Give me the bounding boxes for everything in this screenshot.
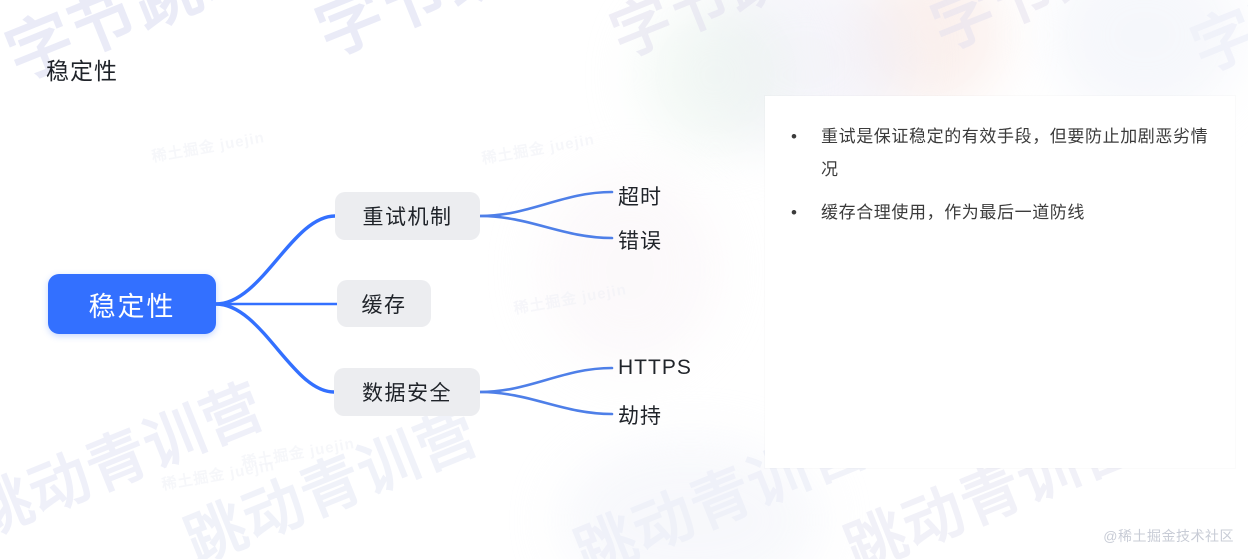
community-credit: @稀土掘金技术社区 (1103, 526, 1234, 546)
connector-retry-to-timeout (480, 192, 612, 216)
connector-security-to-https (480, 368, 612, 392)
notes-list: • 重试是保证稳定的有效手段，但要防止加剧恶劣情况 • 缓存合理使用，作为最后一… (779, 120, 1209, 229)
mindmap-node-label: 重试机制 (363, 201, 453, 231)
mindmap-root-label: 稳定性 (89, 285, 176, 324)
mindmap-leaf-error[interactable]: 错误 (618, 225, 662, 255)
mindmap: 稳定性 重试机制 缓存 数据安全 超时 错误 HTTPS 劫持 (0, 0, 760, 559)
mindmap-node-cache[interactable]: 缓存 (337, 280, 431, 327)
bullet-icon: • (791, 196, 798, 229)
notes-list-item: • 重试是保证稳定的有效手段，但要防止加剧恶劣情况 (779, 120, 1209, 186)
notes-panel: • 重试是保证稳定的有效手段，但要防止加剧恶劣情况 • 缓存合理使用，作为最后一… (765, 96, 1235, 468)
mindmap-node-label: 数据安全 (362, 377, 452, 407)
connector-root-to-retry (216, 216, 335, 304)
connector-root-to-security (216, 304, 334, 392)
notes-item-text: 重试是保证稳定的有效手段，但要防止加剧恶劣情况 (821, 127, 1208, 179)
notes-list-item: • 缓存合理使用，作为最后一道防线 (779, 196, 1209, 229)
notes-item-text: 缓存合理使用，作为最后一道防线 (821, 203, 1085, 222)
slide-canvas: 字节跳动 字节跳动 字节跳动 字节跳动 字节跳动 跳动青训营 跳动青训营 跳动青… (0, 0, 1248, 559)
mindmap-node-label: 缓存 (362, 289, 407, 319)
bullet-icon: • (791, 120, 798, 153)
connector-retry-to-error (480, 216, 612, 238)
mindmap-leaf-timeout[interactable]: 超时 (618, 181, 662, 211)
watermark-brand: 字节跳动 (1176, 0, 1248, 89)
mindmap-node-data-security[interactable]: 数据安全 (334, 368, 480, 416)
bg-blob-peach (855, 0, 1005, 110)
mindmap-node-retry[interactable]: 重试机制 (335, 192, 480, 240)
mindmap-leaf-hijack[interactable]: 劫持 (618, 400, 662, 430)
watermark-brand: 字节跳动 (916, 0, 1187, 67)
mindmap-root-node[interactable]: 稳定性 (48, 274, 216, 334)
mindmap-leaf-https[interactable]: HTTPS (618, 356, 692, 380)
connector-security-to-hijack (480, 392, 612, 414)
